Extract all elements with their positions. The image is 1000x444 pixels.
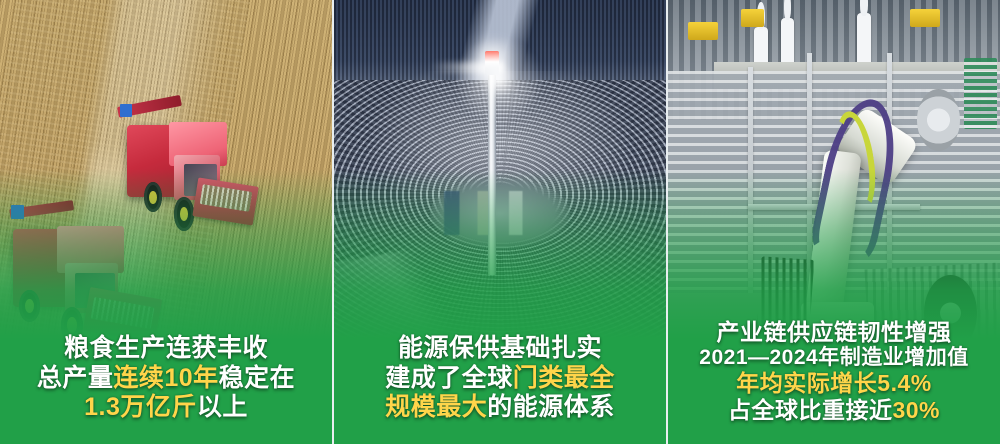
- caption-segment: 总产量: [37, 364, 114, 392]
- caption-segment-highlight: 连续10年: [113, 364, 218, 392]
- overhead-equipment: [688, 22, 718, 40]
- caption-line: 粮食生产连获丰收: [6, 334, 326, 363]
- harvester-flag: [120, 104, 133, 118]
- caption-line: 建成了全球门类最全: [340, 364, 660, 393]
- caption-line: 1.3万亿斤以上: [6, 393, 326, 422]
- caption-segment-highlight: 门类最全: [513, 364, 615, 392]
- harvester-wheel: [19, 290, 40, 322]
- caption-line: 能源保供基础扎实: [340, 334, 660, 363]
- caption-line: 年均实际增长5.4%: [674, 370, 994, 397]
- caption-line: 产业链供应链韧性增强: [674, 319, 994, 346]
- caption-line: 2021—2024年制造业增加值: [674, 346, 994, 371]
- caption-segment: 占全球比重接近: [728, 397, 893, 423]
- green-parts-rack: [964, 58, 997, 129]
- caption-segment: 产业链供应链韧性增强: [717, 319, 952, 345]
- caption-segment-highlight: 1.3万亿斤: [84, 393, 197, 421]
- caption-segment-highlight: 年均实际增长5.4%: [736, 370, 931, 396]
- wheel-part-upper: [917, 89, 960, 151]
- caption-segment: 稳定在: [219, 364, 296, 392]
- infographic-root: 粮食生产连获丰收 总产量连续10年稳定在 1.3万亿斤以上 能源保供基础扎实 建…: [0, 0, 1000, 444]
- caption-agriculture: 粮食生产连获丰收 总产量连续10年稳定在 1.3万亿斤以上: [0, 334, 332, 436]
- panel-energy: 能源保供基础扎实 建成了全球门类最全 规模最大的能源体系: [332, 0, 666, 444]
- caption-segment-highlight: 30%: [892, 397, 940, 423]
- caption-segment: 粮食生产连获丰收: [64, 334, 268, 362]
- caption-segment: 能源保供基础扎实: [398, 334, 602, 362]
- caption-line: 规模最大的能源体系: [340, 393, 660, 422]
- harvester-wheel: [174, 197, 194, 230]
- caption-industry: 产业链供应链韧性增强 2021—2024年制造业增加值 年均实际增长5.4% 占…: [668, 319, 1000, 438]
- panel-industry: 产业链供应链韧性增强 2021—2024年制造业增加值 年均实际增长5.4% 占…: [666, 0, 1000, 444]
- panel-agriculture: 粮食生产连获丰收 总产量连续10年稳定在 1.3万亿斤以上: [0, 0, 332, 444]
- caption-line: 占全球比重接近30%: [674, 397, 994, 424]
- caption-segment: 2021—2024年制造业增加值: [699, 346, 968, 369]
- caption-energy: 能源保供基础扎实 建成了全球门类最全 规模最大的能源体系: [334, 334, 666, 436]
- caption-segment: 建成了全球: [385, 364, 513, 392]
- caption-segment-highlight: 规模最大: [385, 393, 487, 421]
- caption-segment: 的能源体系: [487, 393, 615, 421]
- overhead-equipment: [741, 9, 764, 27]
- plant-equipment: [444, 191, 557, 235]
- harvester-flag: [11, 205, 24, 218]
- caption-line: 总产量连续10年稳定在: [6, 364, 326, 393]
- overhead-equipment: [910, 9, 940, 27]
- caption-segment: 以上: [197, 393, 248, 421]
- receiver-glow: [454, 36, 540, 125]
